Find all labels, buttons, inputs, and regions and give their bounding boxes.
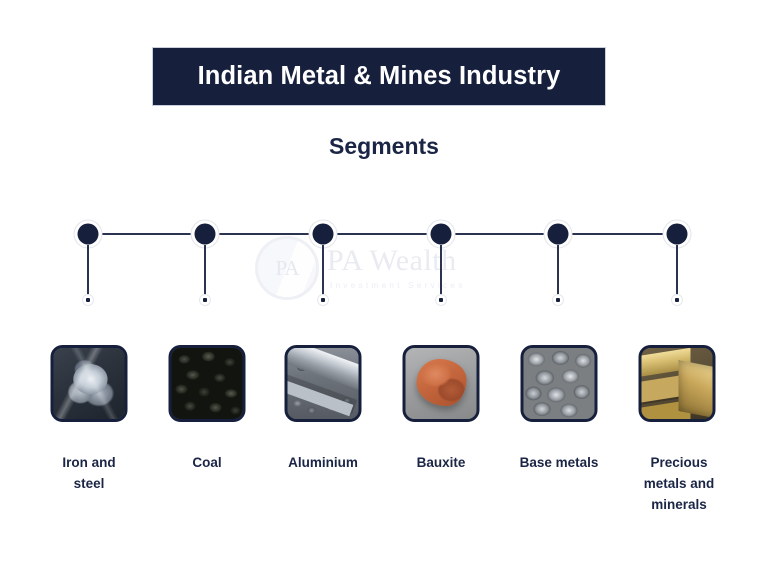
node-ring-icon xyxy=(310,221,337,248)
drop-end-dot-icon xyxy=(436,295,446,305)
node-dot-icon xyxy=(548,224,569,245)
segment-image-iron-and-steel[interactable] xyxy=(51,345,128,422)
segment-image-base-metals[interactable] xyxy=(521,345,598,422)
segment-image-precious-metals[interactable] xyxy=(639,345,716,422)
segment-image-coal[interactable] xyxy=(169,345,246,422)
timeline-node-iron-and-steel[interactable] xyxy=(75,221,102,248)
drop-end-dot-icon xyxy=(83,295,93,305)
timeline-connector-line xyxy=(88,233,677,235)
node-dot-icon xyxy=(431,224,452,245)
segment-label-coal: Coal xyxy=(152,452,262,473)
node-ring-icon xyxy=(75,221,102,248)
section-subtitle: Segments xyxy=(0,133,768,160)
drop-end-dot-icon xyxy=(318,295,328,305)
watermark-text-block: PA Wealth Investment Services xyxy=(327,246,465,290)
title-banner: Indian Metal & Mines Industry xyxy=(153,48,605,105)
iron-ore-rock-image xyxy=(54,348,125,419)
drop-line xyxy=(676,245,678,300)
watermark-badge-text: PA xyxy=(276,256,299,281)
node-ring-icon xyxy=(545,221,572,248)
timeline-node-bauxite[interactable] xyxy=(428,221,455,248)
node-dot-icon xyxy=(78,224,99,245)
node-dot-icon xyxy=(667,224,688,245)
drop-line xyxy=(440,245,442,300)
drop-line xyxy=(87,245,89,300)
infographic-canvas: Indian Metal & Mines Industry Segments P… xyxy=(0,0,768,576)
segment-label-precious-metals: Precious metals and minerals xyxy=(631,452,727,515)
node-dot-icon xyxy=(313,224,334,245)
segment-image-aluminium[interactable] xyxy=(285,345,362,422)
gold-bars-image xyxy=(642,348,713,419)
node-ring-icon xyxy=(192,221,219,248)
drop-line xyxy=(557,245,559,300)
page-title: Indian Metal & Mines Industry xyxy=(198,62,561,91)
timeline-node-coal[interactable] xyxy=(192,221,219,248)
coal-chunks-image xyxy=(172,348,243,419)
timeline-node-aluminium[interactable] xyxy=(310,221,337,248)
drop-line xyxy=(322,245,324,300)
drop-end-dot-icon xyxy=(672,295,682,305)
segment-label-aluminium: Aluminium xyxy=(265,452,381,473)
segment-label-base-metals: Base metals xyxy=(502,452,616,473)
drop-end-dot-icon xyxy=(200,295,210,305)
drop-line xyxy=(204,245,206,300)
bauxite-rock-image xyxy=(406,348,477,419)
drop-end-dot-icon xyxy=(553,295,563,305)
segment-label-iron-and-steel: Iron and steel xyxy=(47,452,131,494)
timeline-node-precious-metals[interactable] xyxy=(664,221,691,248)
segment-label-bauxite: Bauxite xyxy=(386,452,496,473)
node-ring-icon xyxy=(428,221,455,248)
node-dot-icon xyxy=(195,224,216,245)
aluminium-billets-image xyxy=(288,348,359,419)
timeline-node-base-metals[interactable] xyxy=(545,221,572,248)
base-metal-nuggets-image xyxy=(524,348,595,419)
watermark-tagline: Investment Services xyxy=(327,281,465,290)
watermark-name: PA Wealth xyxy=(327,246,465,276)
segment-image-bauxite[interactable] xyxy=(403,345,480,422)
node-ring-icon xyxy=(664,221,691,248)
